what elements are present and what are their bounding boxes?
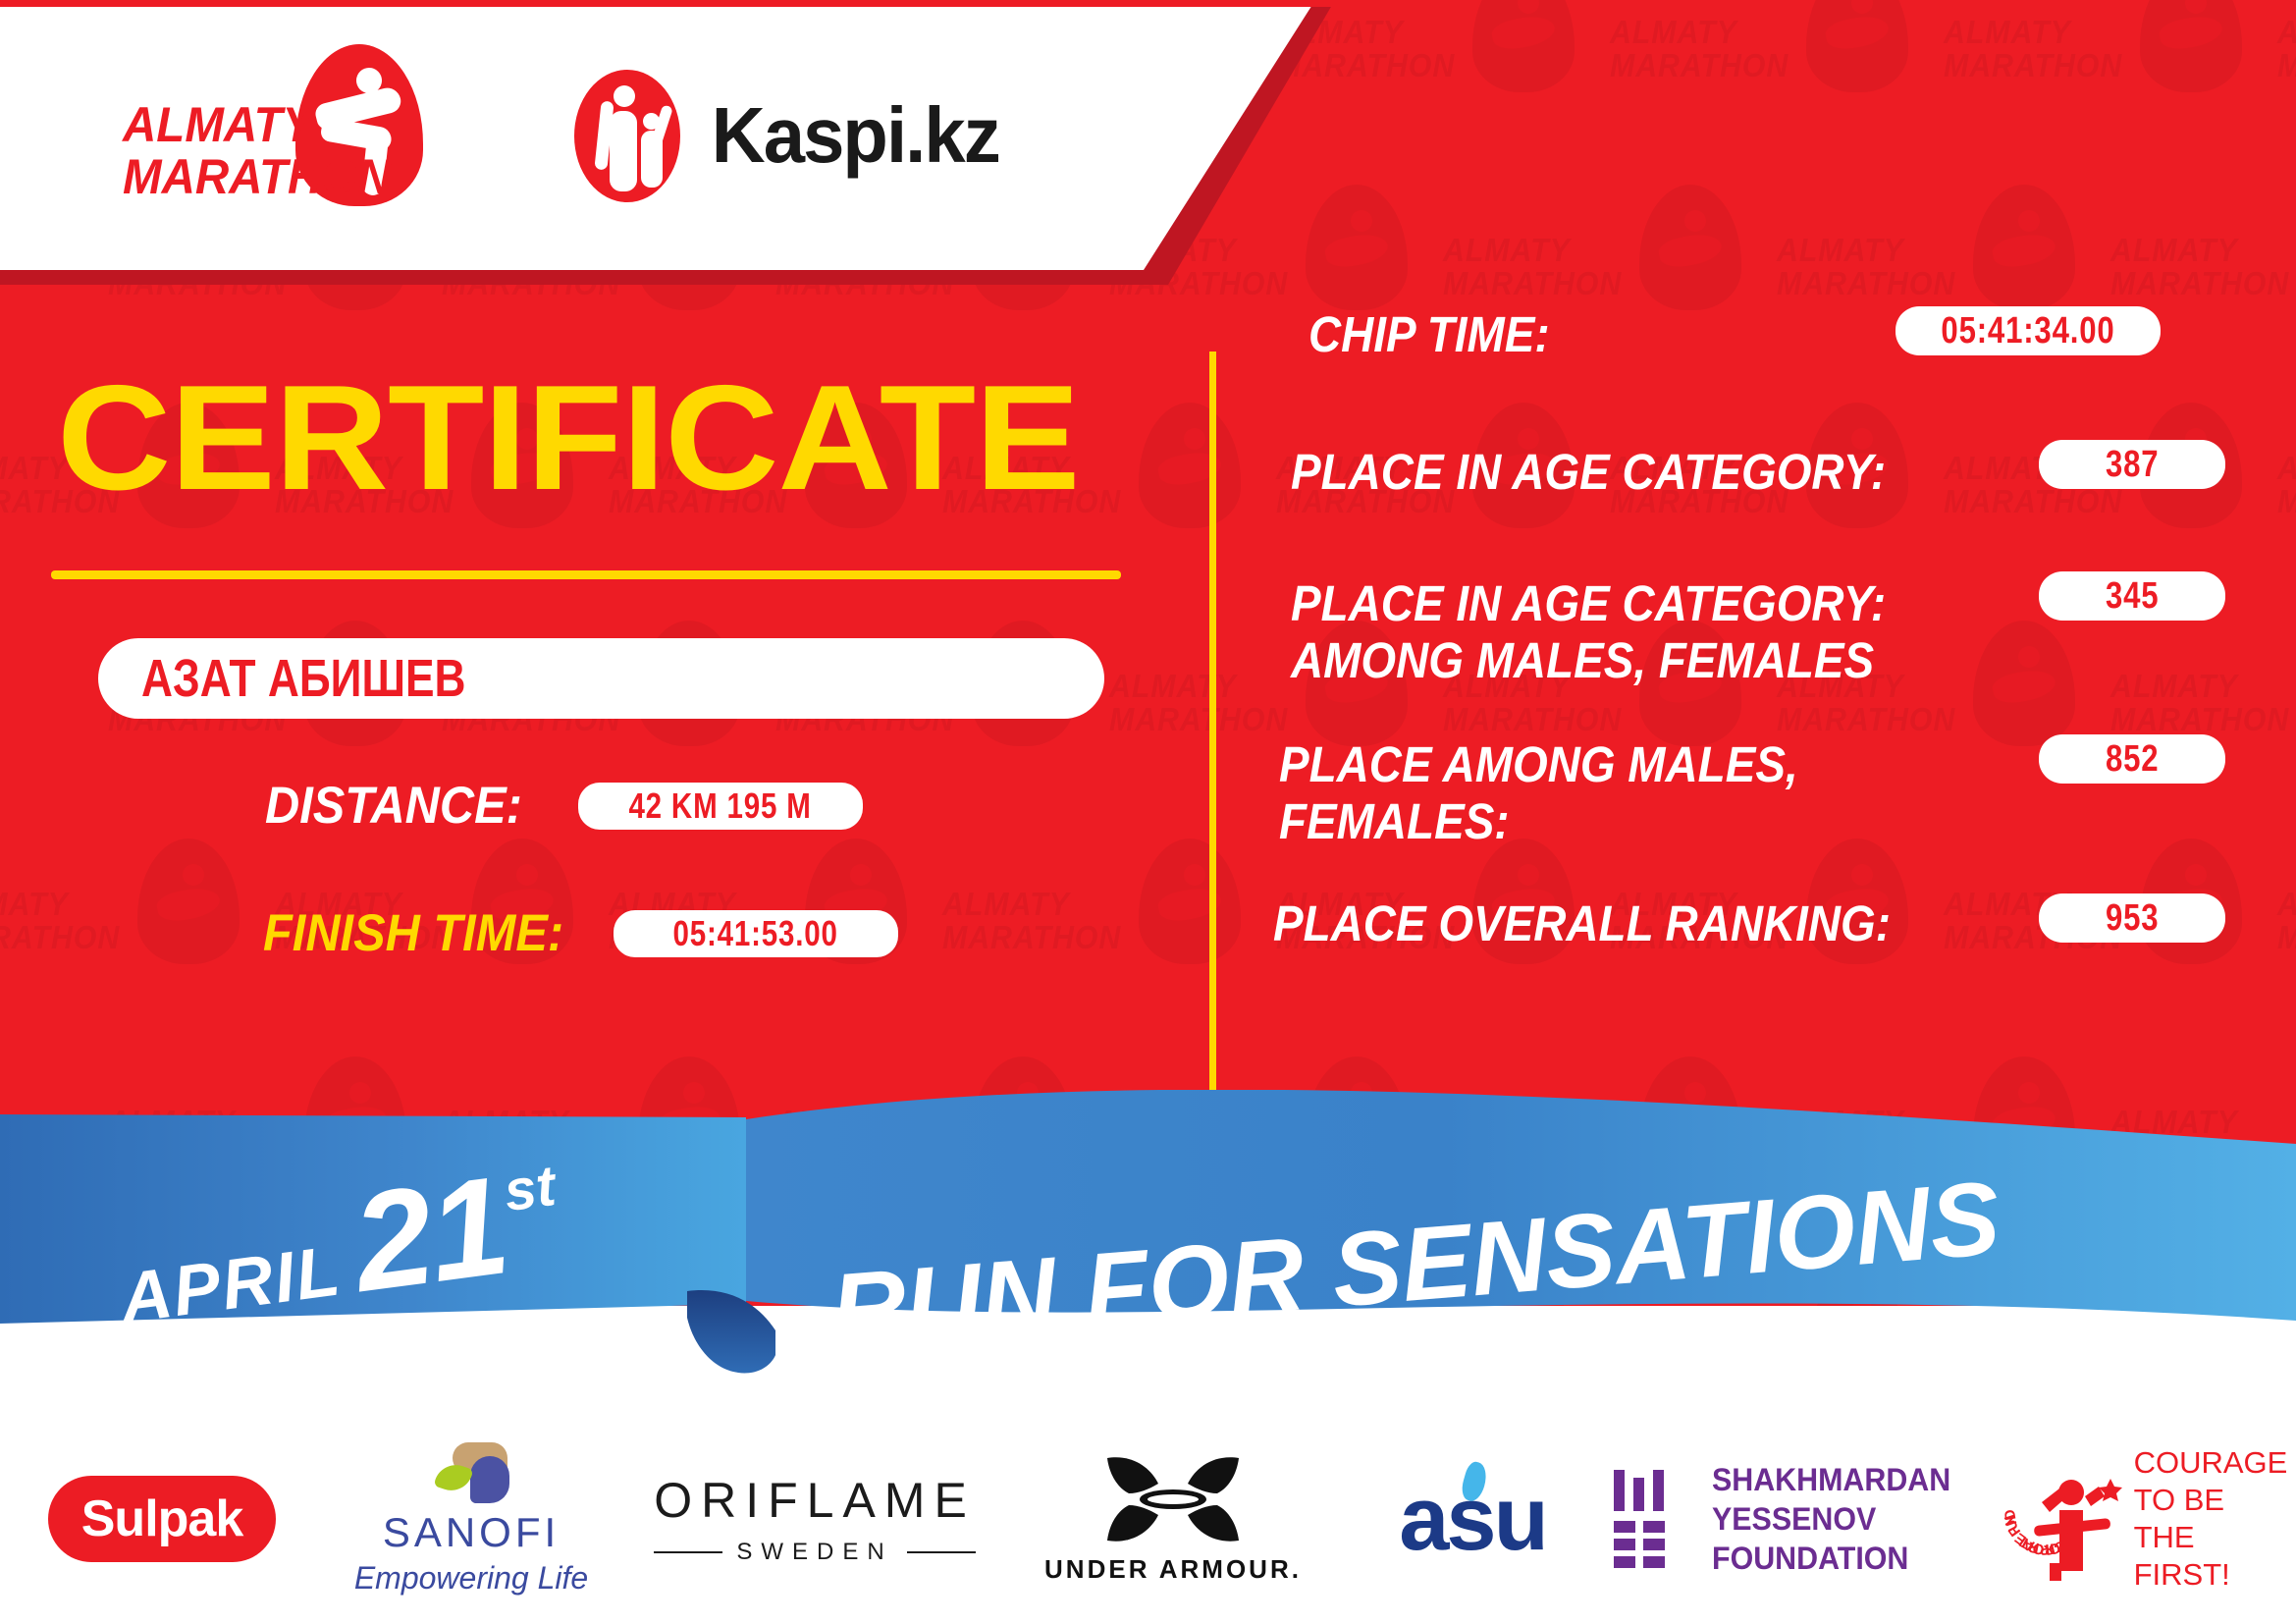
kaspi-wordmark: Kaspi.kz — [712, 90, 999, 181]
courage-line-2: TO BE — [2134, 1482, 2296, 1519]
place-among-males-label-line2: FEMALES: — [1279, 793, 1510, 850]
watermark-text: ALMATYMARATHON — [1944, 16, 2161, 82]
courage-line-1: COURAGE — [2134, 1444, 2296, 1482]
sponsor-bar: Sulpak SANOFI Empowering Life ORIFLAME S… — [0, 1414, 2296, 1624]
finish-time-label: FINISH TIME: — [263, 903, 563, 963]
kaspi-adult-body — [610, 111, 637, 191]
sponsor-sanofi: SANOFI Empowering Life — [324, 1445, 618, 1593]
under-armour-wordmark: UNDER ARMOUR. — [1044, 1554, 1302, 1585]
distance-label: DISTANCE: — [265, 776, 522, 836]
place-age-among-value-pill: 345 — [2039, 571, 2225, 621]
sponsor-sulpak: Sulpak — [0, 1445, 324, 1593]
place-age-category-value: 387 — [2106, 444, 2159, 486]
sponsor-under-armour: UNDER ARMOUR. — [1011, 1445, 1335, 1593]
kaspi-logo: Kaspi.kz — [574, 62, 1007, 209]
sanofi-mark-icon — [429, 1442, 513, 1503]
kaspi-figures-icon — [574, 62, 682, 209]
yessenov-bars-icon — [1610, 1470, 1686, 1568]
place-among-males-label-line1: PLACE AMONG MALES, — [1279, 736, 1798, 793]
place-overall-label: PLACE OVERALL RANKING: — [1273, 895, 1891, 952]
place-age-among-label-line2: AMONG MALES, FEMALES — [1291, 632, 1874, 689]
title-underline — [51, 570, 1121, 579]
watermark-text: ALMATYMARATHON — [2277, 16, 2296, 82]
event-day-suffix: st — [501, 1153, 560, 1224]
place-age-among-value: 345 — [2106, 575, 2159, 618]
chip-time-value: 05:41:34.00 — [1941, 310, 2114, 352]
finish-time-value: 05:41:53.00 — [673, 913, 838, 954]
chip-time-value-pill: 05:41:34.00 — [1896, 306, 2161, 355]
sponsor-oriflame: ORIFLAME SWEDEN — [618, 1445, 1011, 1593]
watermark-tile: ALMATYMARATHON — [1610, 0, 1934, 177]
distance-value: 42 KM 195 M — [629, 785, 812, 827]
logo-line-1: ALMATY — [123, 99, 356, 151]
oriflame-wordmark: ORIFLAME — [654, 1472, 976, 1529]
finish-time-value-pill: 05:41:53.00 — [614, 910, 898, 957]
sanofi-wordmark: SANOFI — [354, 1509, 588, 1556]
place-among-males-value-pill: 852 — [2039, 734, 2225, 784]
place-overall-value-pill: 953 — [2039, 893, 2225, 943]
certificate-page: ALMATYMARATHONALMATYMARATHONALMATYMARATH… — [0, 0, 2296, 1624]
sulpak-wordmark: Sulpak — [48, 1476, 277, 1562]
place-among-males-row: PLACE AMONG MALES, FEMALES: — [1279, 736, 1855, 850]
participant-name-field: АЗАТ АБИШЕВ — [98, 638, 1104, 719]
distance-value-pill: 42 KM 195 M — [578, 783, 863, 830]
place-overall-row: PLACE OVERALL RANKING: — [1273, 895, 1959, 952]
oriflame-tagline: SWEDEN — [736, 1539, 892, 1566]
place-overall-value: 953 — [2106, 897, 2159, 940]
sponsor-yessenov: SHAKHMARDAN YESSENOV FOUNDATION — [1610, 1445, 2002, 1593]
place-age-category-value-pill: 387 — [2039, 440, 2225, 489]
oriflame-rule-right — [907, 1551, 976, 1553]
courage-figure-icon: CORPORATE FUND — [2002, 1461, 2118, 1577]
asu-wordmark-wrap: asu — [1399, 1474, 1546, 1564]
header-panel: ALMATY MARATHON Kaspi.kz — [0, 0, 1335, 285]
sponsor-asu: asu — [1335, 1445, 1610, 1593]
almaty-marathon-logo: ALMATY MARATHON — [123, 44, 447, 226]
chip-time-label: CHIP TIME: — [1308, 306, 1550, 363]
watermark-tile: ALMATYMARATHON — [1944, 0, 2268, 177]
place-age-category-row: PLACE IN AGE CATEGORY: — [1291, 444, 1951, 501]
event-month: APRIL — [116, 1230, 347, 1339]
participant-name: АЗАТ АБИШЕВ — [141, 648, 465, 709]
event-ribbon: APRIL 21 st RUN FOR SENSATIONS — [0, 1090, 2296, 1414]
watermark-tile: ALMATYMARATHON — [2277, 0, 2296, 177]
chip-time-row: CHIP TIME: — [1308, 306, 1576, 363]
finish-time-row: FINISH TIME: 05:41:53.00 — [263, 903, 898, 963]
courage-line-3: THE FIRST! — [2134, 1519, 2296, 1594]
watermark-text: ALMATYMARATHON — [1610, 16, 1827, 82]
kaspi-adult-head — [614, 85, 635, 107]
under-armour-icon — [1099, 1454, 1247, 1544]
yessenov-wordmark: SHAKHMARDAN YESSENOV — [1712, 1460, 1988, 1539]
page-title: CERTIFICATE — [57, 363, 1080, 513]
event-day: 21 — [345, 1145, 515, 1325]
oriflame-rule-left — [654, 1551, 722, 1553]
logo-line-2: MARATHON — [123, 151, 356, 203]
place-age-among-label-line1: PLACE IN AGE CATEGORY: — [1291, 575, 1886, 632]
place-among-males-value: 852 — [2106, 738, 2159, 781]
distance-row: DISTANCE: 42 KM 195 M — [265, 776, 863, 836]
vertical-divider — [1209, 352, 1216, 1098]
almaty-marathon-wordmark: ALMATY MARATHON — [123, 99, 356, 203]
sanofi-tagline: Empowering Life — [354, 1560, 588, 1597]
place-age-among-row: PLACE IN AGE CATEGORY: AMONG MALES, FEMA… — [1291, 575, 1951, 689]
place-age-category-label: PLACE IN AGE CATEGORY: — [1291, 444, 1886, 501]
sponsor-courage-fund: CORPORATE FUND COURAGE TO BE THE FIRST! — [2002, 1445, 2296, 1593]
yessenov-wordmark-line2: FOUNDATION — [1712, 1539, 1988, 1578]
